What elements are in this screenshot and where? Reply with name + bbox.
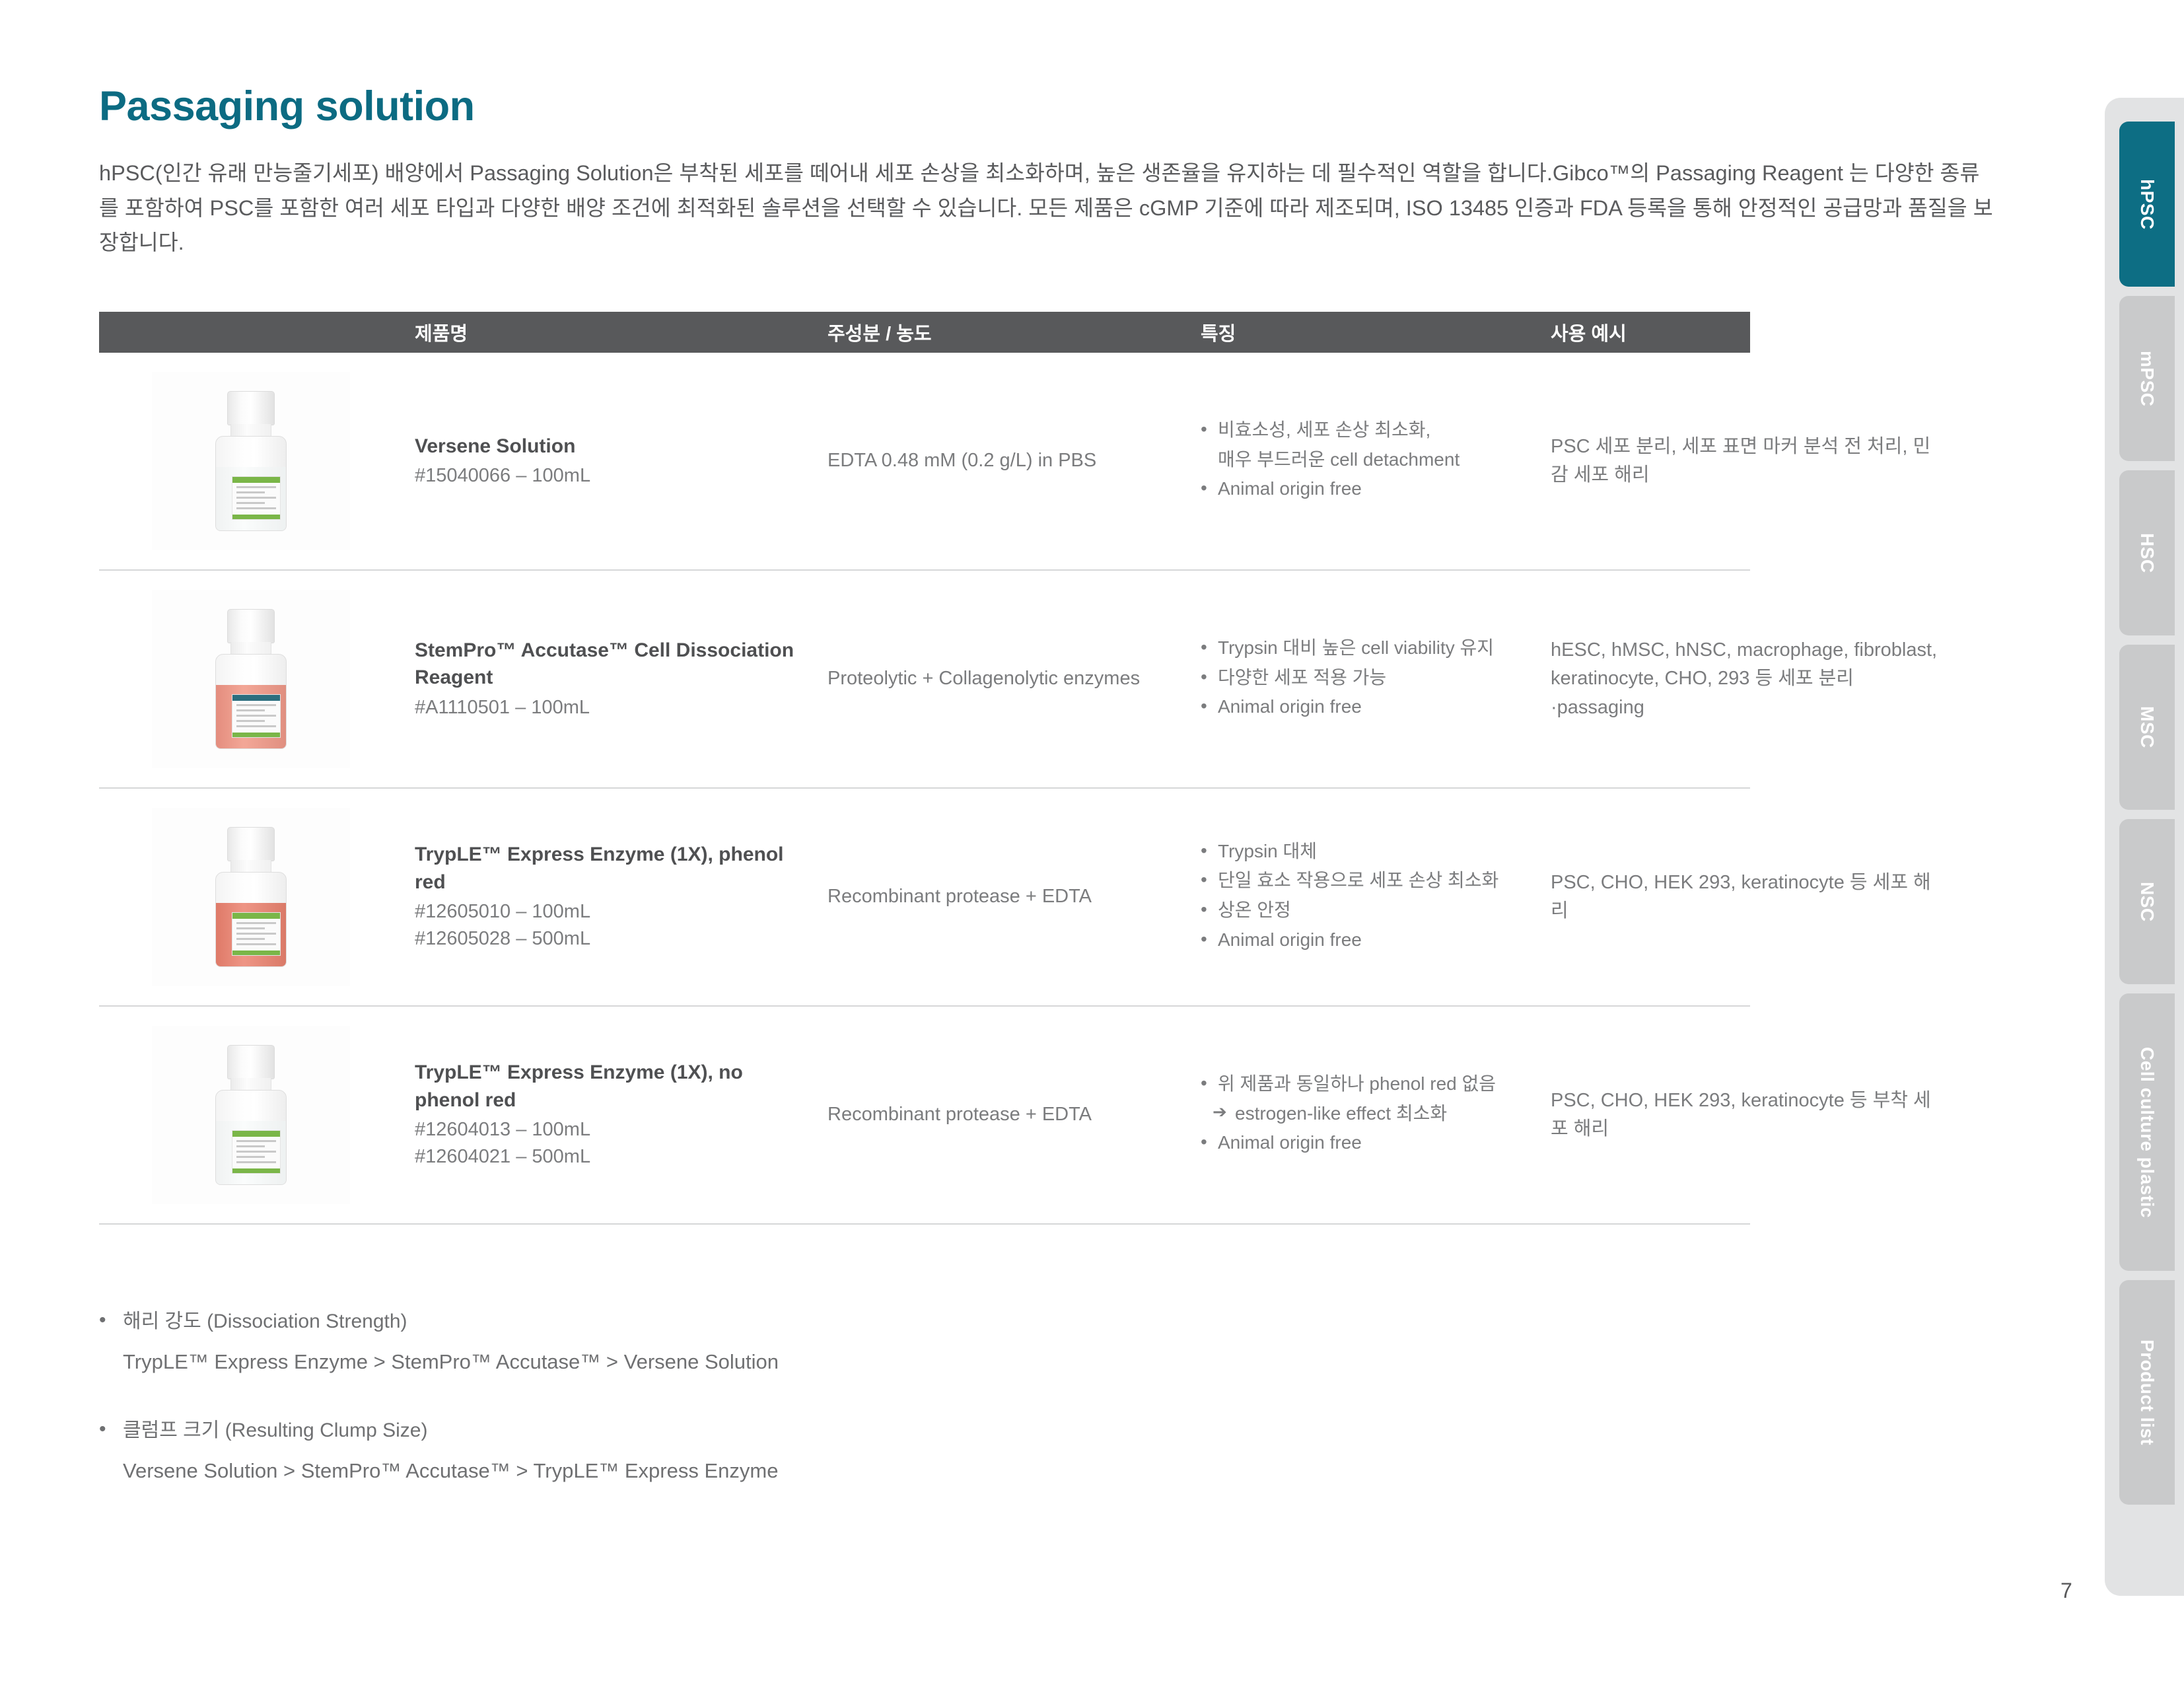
note-body: Versene Solution > StemPro™ Accutase™ > … <box>92 1456 1677 1485</box>
product-name-cell: TrypLE™ Express Enzyme (1X), no phenol r… <box>403 1007 816 1223</box>
tryple-express-phenol-red-bottle <box>152 808 350 986</box>
feature-item: 다양한 세포 적용 가능 <box>1201 664 1527 691</box>
usage-cell: PSC 세포 분리, 세포 표면 마커 분석 전 처리, 민감 세포 해리 <box>1539 353 1952 569</box>
note-heading: 클럼프 크기 (Resulting Clump Size) <box>92 1417 1677 1445</box>
product-image-cell <box>99 789 403 1005</box>
rail-tab-product-list[interactable]: Product list <box>2119 1280 2175 1505</box>
rail-tab-label: mPSC <box>2136 351 2158 406</box>
usage-cell: PSC, CHO, HEK 293, keratinocyte 등 세포 해리 <box>1539 789 1952 1005</box>
notes-section: 해리 강도 (Dissociation Strength)TrypLE™ Exp… <box>92 1308 1677 1526</box>
table-body: Versene Solution#15040066 – 100mLEDTA 0.… <box>99 353 1750 1225</box>
tryple-express-no-phenol-red-bottle <box>152 1026 350 1204</box>
usage-cell: hESC, hMSC, hNSC, macrophage, fibroblast… <box>1539 571 1952 787</box>
product-image-cell <box>99 571 403 787</box>
product-code: #A1110501 – 100mL <box>415 694 804 721</box>
feature-item: estrogen-like effect 최소화 <box>1201 1100 1527 1127</box>
rail-tab-label: Product list <box>2136 1340 2158 1445</box>
rail-tab-label: HSC <box>2136 533 2158 573</box>
product-name-cell: StemPro™ Accutase™ Cell Dissociation Rea… <box>403 571 816 787</box>
product-name: TrypLE™ Express Enzyme (1X), no phenol r… <box>415 1059 804 1114</box>
column-header-name: 제품명 <box>403 318 816 346</box>
versene-solution-bottle <box>152 372 350 550</box>
rail-tab-label: hPSC <box>2136 179 2158 230</box>
product-code: #12604021 – 500mL <box>415 1143 804 1170</box>
column-header-usage: 사용 예시 <box>1539 318 1952 346</box>
composition-cell: EDTA 0.48 mM (0.2 g/L) in PBS <box>816 353 1189 569</box>
table-row: Versene Solution#15040066 – 100mLEDTA 0.… <box>99 353 1750 571</box>
usage-cell: PSC, CHO, HEK 293, keratinocyte 등 부착 세포 … <box>1539 1007 1952 1223</box>
section-tab-rail: hPSCmPSCHSCMSCNSCCell culture plasticPro… <box>2105 98 2184 1596</box>
product-code: #15040066 – 100mL <box>415 462 804 489</box>
feature-list: 위 제품과 동일하나 phenol red 없음estrogen-like ef… <box>1201 1071 1527 1159</box>
rail-tab-label: NSC <box>2136 882 2158 922</box>
document-page: Passaging solution hPSC(인간 유래 만능줄기세포) 배양… <box>0 0 2184 1685</box>
features-cell: Trypsin 대비 높은 cell viability 유지다양한 세포 적용… <box>1189 571 1539 787</box>
note-body: TrypLE™ Express Enzyme > StemPro™ Accuta… <box>92 1347 1677 1376</box>
rail-tab-label: MSC <box>2136 706 2158 748</box>
product-name-cell: Versene Solution#15040066 – 100mL <box>403 353 816 569</box>
rail-tab-nsc[interactable]: NSC <box>2119 819 2175 984</box>
usage-text: hESC, hMSC, hNSC, macrophage, fibroblast… <box>1551 636 1940 723</box>
feature-list: Trypsin 대체단일 효소 작용으로 세포 손상 최소화상온 안정Anima… <box>1201 838 1527 956</box>
composition-cell: Recombinant protease + EDTA <box>816 1007 1189 1223</box>
table-row: TrypLE™ Express Enzyme (1X), phenol red#… <box>99 789 1750 1007</box>
product-codes: #12605010 – 100mL#12605028 – 500mL <box>415 898 804 952</box>
product-codes: #A1110501 – 100mL <box>415 694 804 721</box>
rail-tab-cell-culture-plastic[interactable]: Cell culture plastic <box>2119 993 2175 1271</box>
product-code: #12605028 – 500mL <box>415 925 804 952</box>
composition-text: EDTA 0.48 mM (0.2 g/L) in PBS <box>828 447 1177 476</box>
rail-tab-hsc[interactable]: HSC <box>2119 470 2175 635</box>
feature-list: 비효소성, 세포 손상 최소화,매우 부드러운 cell detachmentA… <box>1201 417 1527 505</box>
product-code: #12605010 – 100mL <box>415 898 804 925</box>
table-row: TrypLE™ Express Enzyme (1X), no phenol r… <box>99 1007 1750 1225</box>
composition-text: Proteolytic + Collagenolytic enzymes <box>828 664 1177 694</box>
note-item: 해리 강도 (Dissociation Strength)TrypLE™ Exp… <box>92 1308 1677 1376</box>
usage-text: PSC, CHO, HEK 293, keratinocyte 등 부착 세포 … <box>1551 1087 1940 1144</box>
feature-item: Trypsin 대비 높은 cell viability 유지 <box>1201 635 1527 661</box>
rail-tab-label: Cell culture plastic <box>2136 1047 2158 1218</box>
feature-item: Animal origin free <box>1201 476 1527 502</box>
note-item: 클럼프 크기 (Resulting Clump Size)Versene Sol… <box>92 1417 1677 1485</box>
composition-text: Recombinant protease + EDTA <box>828 882 1177 912</box>
usage-text: PSC, CHO, HEK 293, keratinocyte 등 세포 해리 <box>1551 869 1940 926</box>
product-table: 제품명 주성분 / 농도 특징 사용 예시 Versene Solution#1… <box>99 312 1750 1225</box>
feature-item: 비효소성, 세포 손상 최소화, <box>1201 417 1527 443</box>
page-title: Passaging solution <box>99 85 475 128</box>
feature-list: Trypsin 대비 높은 cell viability 유지다양한 세포 적용… <box>1201 635 1527 723</box>
composition-cell: Proteolytic + Collagenolytic enzymes <box>816 571 1189 787</box>
composition-cell: Recombinant protease + EDTA <box>816 789 1189 1005</box>
stempro-accutase-bottle <box>152 590 350 768</box>
composition-text: Recombinant protease + EDTA <box>828 1100 1177 1129</box>
feature-item: Trypsin 대체 <box>1201 838 1527 865</box>
product-codes: #12604013 – 100mL#12604021 – 500mL <box>415 1116 804 1170</box>
product-name: TrypLE™ Express Enzyme (1X), phenol red <box>415 841 804 896</box>
rail-tab-msc[interactable]: MSC <box>2119 645 2175 810</box>
features-cell: 비효소성, 세포 손상 최소화,매우 부드러운 cell detachmentA… <box>1189 353 1539 569</box>
product-image-cell <box>99 1007 403 1223</box>
feature-item: 상온 안정 <box>1201 897 1527 923</box>
rail-tab-mpsc[interactable]: mPSC <box>2119 296 2175 461</box>
feature-item: Animal origin free <box>1201 927 1527 953</box>
product-codes: #15040066 – 100mL <box>415 462 804 489</box>
intro-paragraph: hPSC(인간 유래 만능줄기세포) 배양에서 Passaging Soluti… <box>99 156 1994 260</box>
usage-text: PSC 세포 분리, 세포 표면 마커 분석 전 처리, 민감 세포 해리 <box>1551 433 1940 490</box>
table-header-row: 제품명 주성분 / 농도 특징 사용 예시 <box>99 312 1750 353</box>
product-name-cell: TrypLE™ Express Enzyme (1X), phenol red#… <box>403 789 816 1005</box>
feature-item: Animal origin free <box>1201 694 1527 720</box>
feature-item: 단일 효소 작용으로 세포 손상 최소화 <box>1201 867 1527 894</box>
feature-item: 위 제품과 동일하나 phenol red 없음 <box>1201 1071 1527 1097</box>
table-row: StemPro™ Accutase™ Cell Dissociation Rea… <box>99 571 1750 789</box>
product-code: #12604013 – 100mL <box>415 1116 804 1143</box>
product-image-cell <box>99 353 403 569</box>
column-header-features: 특징 <box>1189 318 1539 346</box>
feature-item: 매우 부드러운 cell detachment <box>1201 447 1527 473</box>
product-name: StemPro™ Accutase™ Cell Dissociation Rea… <box>415 637 804 692</box>
features-cell: Trypsin 대체단일 효소 작용으로 세포 손상 최소화상온 안정Anima… <box>1189 789 1539 1005</box>
features-cell: 위 제품과 동일하나 phenol red 없음estrogen-like ef… <box>1189 1007 1539 1223</box>
rail-tab-hpsc[interactable]: hPSC <box>2119 122 2175 287</box>
product-name: Versene Solution <box>415 433 804 460</box>
page-number: 7 <box>2061 1579 2072 1603</box>
column-header-composition: 주성분 / 농도 <box>816 318 1189 346</box>
note-heading: 해리 강도 (Dissociation Strength) <box>92 1308 1677 1336</box>
feature-item: Animal origin free <box>1201 1129 1527 1156</box>
